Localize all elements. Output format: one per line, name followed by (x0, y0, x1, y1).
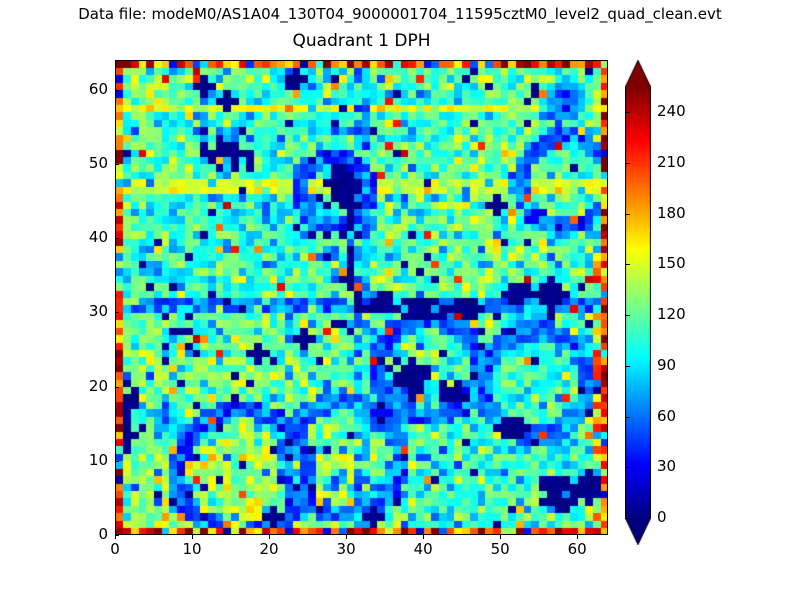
colorbar-tick-mark (625, 214, 630, 215)
figure-canvas: Data file: modeM0/AS1A04_130T04_90000017… (0, 0, 800, 600)
x-tick-mark (192, 535, 193, 539)
y-tick-label: 20 (68, 377, 108, 395)
x-tick-mark (423, 535, 424, 539)
x-tick-label: 20 (239, 540, 299, 558)
colorbar-tick-label: 180 (657, 204, 686, 222)
x-tick-label: 60 (547, 540, 607, 558)
colorbar-tick-mark (625, 264, 630, 265)
x-tick-mark (269, 535, 270, 539)
y-tick-mark (115, 461, 119, 462)
colorbar-gradient[interactable] (625, 60, 651, 545)
colorbar-tick-mark (625, 366, 630, 367)
y-tick-mark (115, 238, 119, 239)
x-tick-mark (346, 535, 347, 539)
y-tick-mark (115, 387, 119, 388)
colorbar-tick-label: 30 (657, 457, 676, 475)
y-tick-label: 50 (68, 154, 108, 172)
x-tick-label: 10 (162, 540, 222, 558)
colorbar-tick-label: 150 (657, 254, 686, 272)
y-tick-label: 60 (68, 80, 108, 98)
y-tick-mark (115, 164, 119, 165)
x-tick-label: 50 (470, 540, 530, 558)
colorbar-tick-mark (625, 315, 630, 316)
colorbar[interactable] (625, 60, 651, 545)
y-tick-label: 10 (68, 451, 108, 469)
axes-title: Quadrant 1 DPH (115, 31, 608, 51)
x-tick-label: 40 (393, 540, 453, 558)
colorbar-tick-label: 210 (657, 153, 686, 171)
colorbar-tick-label: 120 (657, 305, 686, 323)
colorbar-tick-label: 60 (657, 407, 676, 425)
colorbar-tick-mark (625, 467, 630, 468)
colorbar-tick-mark (625, 163, 630, 164)
colorbar-tick-mark (625, 112, 630, 113)
x-tick-mark (577, 535, 578, 539)
y-tick-label: 30 (68, 302, 108, 320)
x-tick-label: 30 (316, 540, 376, 558)
heatmap-plot-area[interactable] (115, 60, 608, 535)
colorbar-tick-label: 90 (657, 356, 676, 374)
colorbar-tick-mark (625, 518, 630, 519)
figure-suptitle: Data file: modeM0/AS1A04_130T04_90000017… (0, 5, 800, 23)
colorbar-tick-label: 240 (657, 102, 686, 120)
y-tick-mark (115, 535, 119, 536)
y-tick-label: 40 (68, 228, 108, 246)
colorbar-tick-mark (625, 417, 630, 418)
x-tick-mark (500, 535, 501, 539)
detector-plane-histogram-image[interactable] (115, 60, 608, 535)
y-tick-label: 0 (68, 525, 108, 543)
y-tick-mark (115, 312, 119, 313)
colorbar-tick-label: 0 (657, 508, 667, 526)
y-tick-mark (115, 90, 119, 91)
